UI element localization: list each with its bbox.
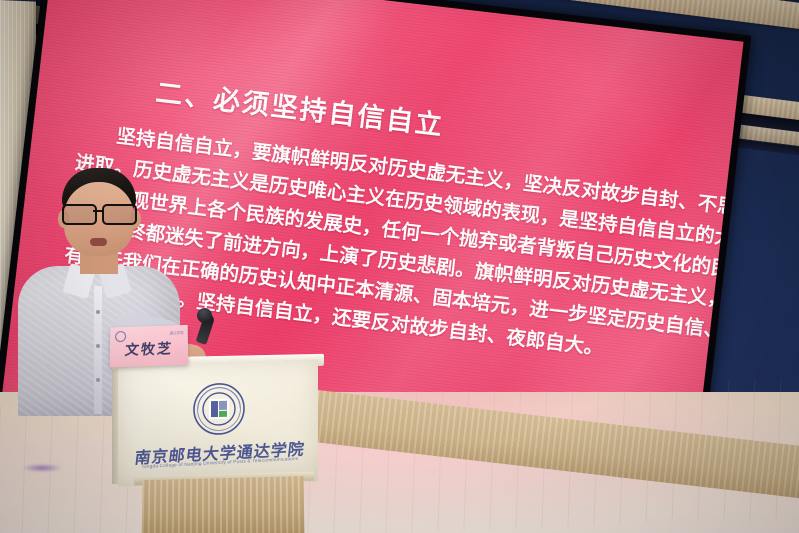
photo-scene: 二、必须坚持自信自立 坚持自信自立，要旗帜鲜明反对历史虚无主义，坚决反对故步自封…	[0, 0, 799, 533]
lectern-base	[142, 476, 305, 533]
university-crest-icon	[192, 381, 246, 436]
glasses-bridge	[93, 210, 104, 212]
lectern: 南京邮电大学通达学院 Tongda College of Nanjing Uni…	[112, 362, 324, 533]
shirt-button	[96, 378, 100, 382]
speaker-shirt-placket	[94, 286, 102, 414]
floor-spot-marker	[22, 464, 62, 472]
shirt-button	[96, 310, 100, 314]
name-placard: 通达学院 文牧芝	[110, 325, 189, 368]
placard-name: 文牧芝	[110, 338, 189, 361]
glasses-lens-left	[62, 204, 97, 225]
shirt-button	[96, 344, 100, 348]
glasses-lens-right	[102, 204, 137, 225]
placard-badge-text: 通达学院	[170, 330, 184, 335]
glasses-icon	[61, 204, 137, 222]
speaker-mouth	[90, 238, 107, 246]
lectern-front-panel: 南京邮电大学通达学院 Tongda College of Nanjing Uni…	[118, 359, 318, 486]
